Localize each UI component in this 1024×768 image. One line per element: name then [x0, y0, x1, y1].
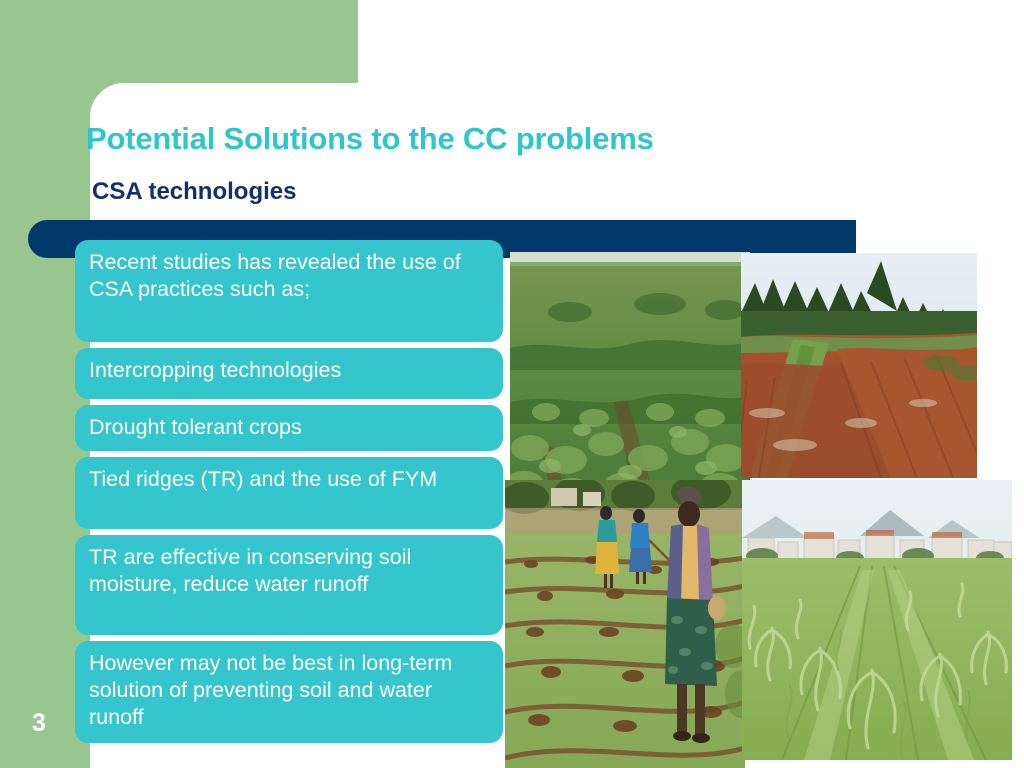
bullet-item: Tied ridges (TR) and the use of FYM [75, 457, 503, 529]
bullet-item: Drought tolerant crops [75, 405, 503, 451]
bullet-item: TR are effective in conserving soil mois… [75, 535, 503, 635]
terraced-field-photo [741, 253, 977, 478]
bullet-list: Recent studies has revealed the use of C… [75, 240, 503, 743]
slide-title: Potential Solutions to the CC problems [86, 121, 654, 157]
bullet-item: Intercropping technologies [75, 348, 503, 399]
bullet-item: Recent studies has revealed the use of C… [75, 240, 503, 342]
slide-subtitle: CSA technologies [92, 178, 296, 206]
green-top-band [0, 0, 358, 83]
farmers-tied-ridges-photo [505, 480, 745, 768]
bean-field-photo [510, 252, 750, 504]
bullet-item: However may not be best in long-term sol… [75, 641, 503, 743]
presentation-slide: Potential Solutions to the CC problems C… [0, 0, 1024, 768]
maize-field-photo [742, 480, 1012, 760]
slide-number: 3 [32, 709, 46, 738]
